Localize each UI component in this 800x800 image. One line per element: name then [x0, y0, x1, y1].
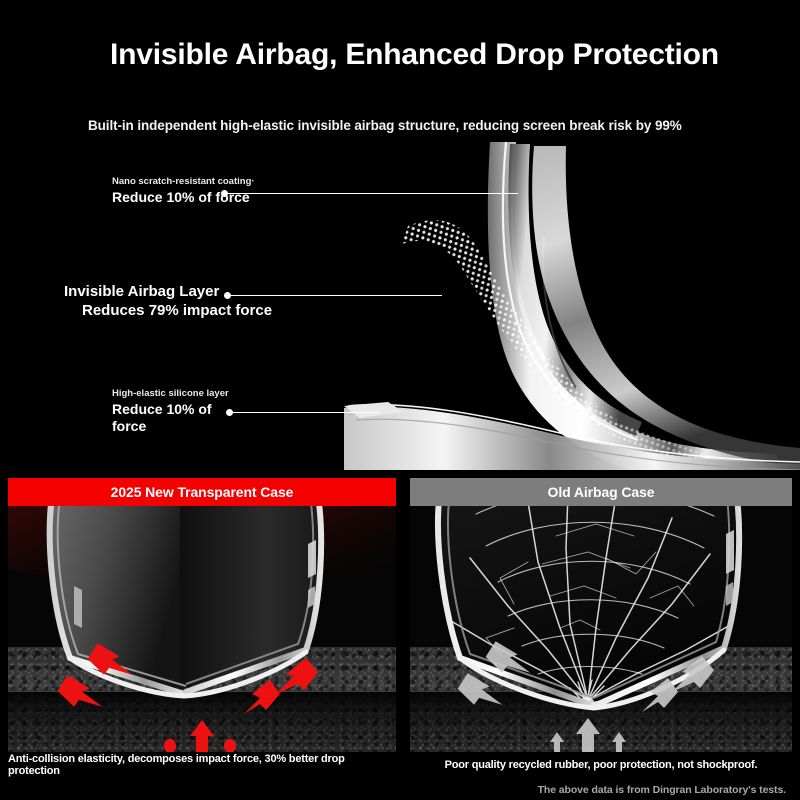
annotation-silicone-layer: High-elastic silicone layer Reduce 10% o…: [112, 388, 242, 434]
impact-arrows-red: [8, 478, 396, 778]
hero-section: Invisible Airbag, Enhanced Drop Protecti…: [0, 0, 800, 470]
case-layers-svg: [330, 140, 800, 470]
panel-caption-old-case: Poor quality recycled rubber, poor prote…: [410, 752, 792, 778]
page-headline: Invisible Airbag, Enhanced Drop Protecti…: [110, 36, 730, 74]
annotation-nano-coating-label: Nano scratch-resistant coating·: [112, 176, 262, 189]
page-subheadline: Built-in independent high-elastic invisi…: [88, 118, 788, 133]
annotation-silicone-layer-value: Reduce 10% of force: [112, 401, 242, 435]
leader-line-nano: [228, 193, 518, 194]
comparison-panel-new-case: 2025 New Transparent Case: [8, 478, 396, 778]
leader-line-silicone: [232, 412, 380, 413]
impact-arrows-gray: [410, 478, 792, 778]
annotation-airbag-layer-value: Reduces 79% impact force: [64, 302, 324, 321]
annotation-nano-coating-value: Reduce 10% of force: [112, 189, 262, 206]
annotation-airbag-layer-label: Invisible Airbag Layer: [64, 283, 324, 302]
annotation-silicone-layer-label: High-elastic silicone layer: [112, 388, 242, 401]
lab-disclaimer: The above data is from Dingran Laborator…: [538, 784, 786, 796]
comparison-panel-old-case: Old Airbag Case: [410, 478, 792, 778]
annotation-airbag-layer: Invisible Airbag Layer Reduces 79% impac…: [64, 283, 324, 321]
panel-banner-old-case: Old Airbag Case: [410, 478, 792, 506]
case-cross-section-illustration: [330, 140, 800, 470]
panel-caption-new-case: Anti-collision elasticity, decomposes im…: [8, 752, 396, 778]
annotation-nano-coating: Nano scratch-resistant coating· Reduce 1…: [112, 176, 262, 206]
panel-banner-new-case: 2025 New Transparent Case: [8, 478, 396, 506]
